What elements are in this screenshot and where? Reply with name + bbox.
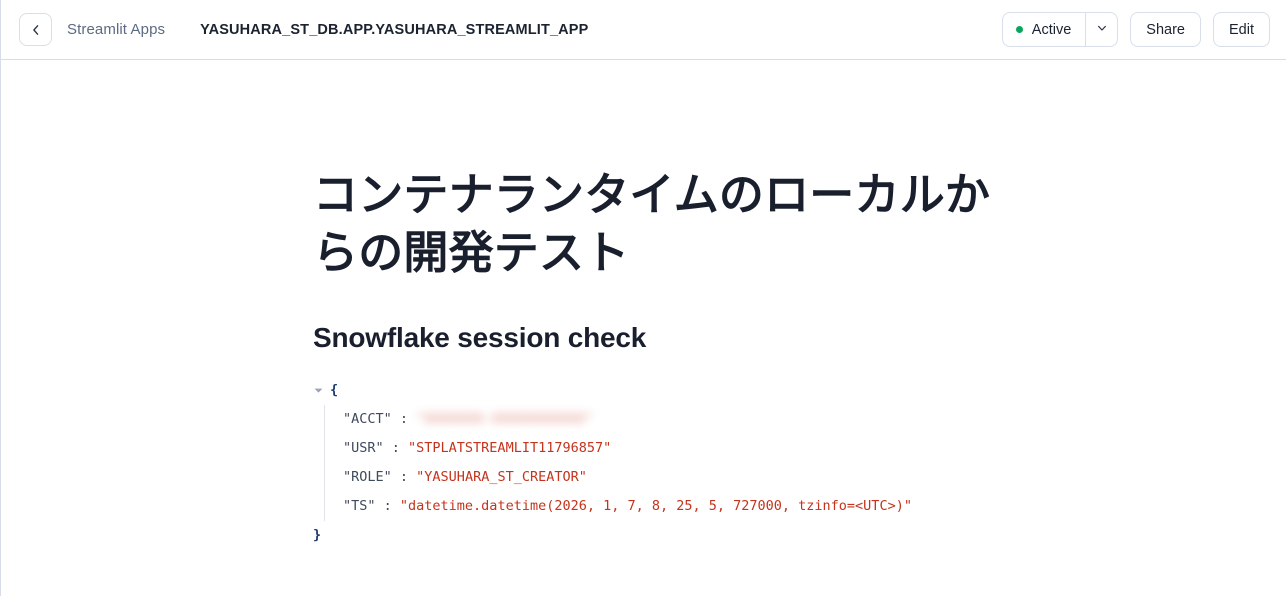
- app-content-area: コンテナランタイムのローカルからの開発テスト Snowflake session…: [1, 60, 1286, 595]
- breadcrumb: Streamlit Apps YASUHARA_ST_DB.APP.YASUHA…: [67, 21, 588, 38]
- json-close-row: }: [313, 521, 1013, 550]
- json-open-brace: {: [330, 376, 338, 405]
- json-row-acct: "ACCT" : "XXXXXXX-XXXXXXXXXXX": [343, 405, 1013, 434]
- back-button[interactable]: [19, 13, 52, 46]
- json-close-brace: }: [313, 521, 321, 550]
- json-key-ts: "TS": [343, 492, 376, 521]
- json-value-acct-redacted: "XXXXXXX-XXXXXXXXXXX": [416, 405, 593, 434]
- chevron-down-icon: [1096, 21, 1108, 39]
- json-colon: :: [376, 492, 400, 521]
- json-row-usr: "USR" : "STPLATSTREAMLIT11796857": [343, 434, 1013, 463]
- share-button[interactable]: Share: [1130, 12, 1201, 47]
- json-value-usr: "STPLATSTREAMLIT11796857": [408, 434, 611, 463]
- json-key-usr: "USR": [343, 434, 384, 463]
- page-title: コンテナランタイムのローカルからの開発テスト: [313, 166, 1028, 281]
- section-heading-snowflake-session-check: Snowflake session check: [313, 322, 1286, 354]
- caret-down-icon[interactable]: [313, 385, 327, 396]
- chevron-left-icon: [29, 23, 43, 37]
- json-key-acct: "ACCT": [343, 405, 392, 434]
- top-navigation-bar: Streamlit Apps YASUHARA_ST_DB.APP.YASUHA…: [1, 0, 1286, 60]
- status-dropdown-button[interactable]: [1085, 13, 1117, 46]
- json-viewer: { "ACCT" : "XXXXXXX-XXXXXXXXXXX" "USR" :…: [313, 376, 1013, 550]
- app-status-control: Active: [1002, 12, 1119, 47]
- breadcrumb-item-streamlit-apps[interactable]: Streamlit Apps: [67, 21, 165, 38]
- topbar-actions: Active Share Edit: [1002, 12, 1270, 47]
- status-dot-icon: [1016, 26, 1023, 33]
- json-value-ts: "datetime.datetime(2026, 1, 7, 8, 25, 5,…: [400, 492, 912, 521]
- json-value-role: "YASUHARA_ST_CREATOR": [416, 463, 587, 492]
- breadcrumb-item-current-app: YASUHARA_ST_DB.APP.YASUHARA_STREAMLIT_AP…: [200, 22, 588, 38]
- app-status-button[interactable]: Active: [1003, 13, 1086, 46]
- streamlit-app-window: Streamlit Apps YASUHARA_ST_DB.APP.YASUHA…: [0, 0, 1286, 596]
- json-colon: :: [392, 463, 416, 492]
- app-content-inner: コンテナランタイムのローカルからの開発テスト Snowflake session…: [1, 60, 1286, 550]
- json-entries: "ACCT" : "XXXXXXX-XXXXXXXXXXX" "USR" : "…: [313, 405, 1013, 521]
- status-badge: Active: [1032, 22, 1072, 38]
- json-colon: :: [392, 405, 416, 434]
- json-row-ts: "TS" : "datetime.datetime(2026, 1, 7, 8,…: [343, 492, 1013, 521]
- json-key-role: "ROLE": [343, 463, 392, 492]
- json-root-toggle[interactable]: {: [313, 376, 338, 405]
- edit-button[interactable]: Edit: [1213, 12, 1270, 47]
- json-row-role: "ROLE" : "YASUHARA_ST_CREATOR": [343, 463, 1013, 492]
- json-colon: :: [384, 434, 408, 463]
